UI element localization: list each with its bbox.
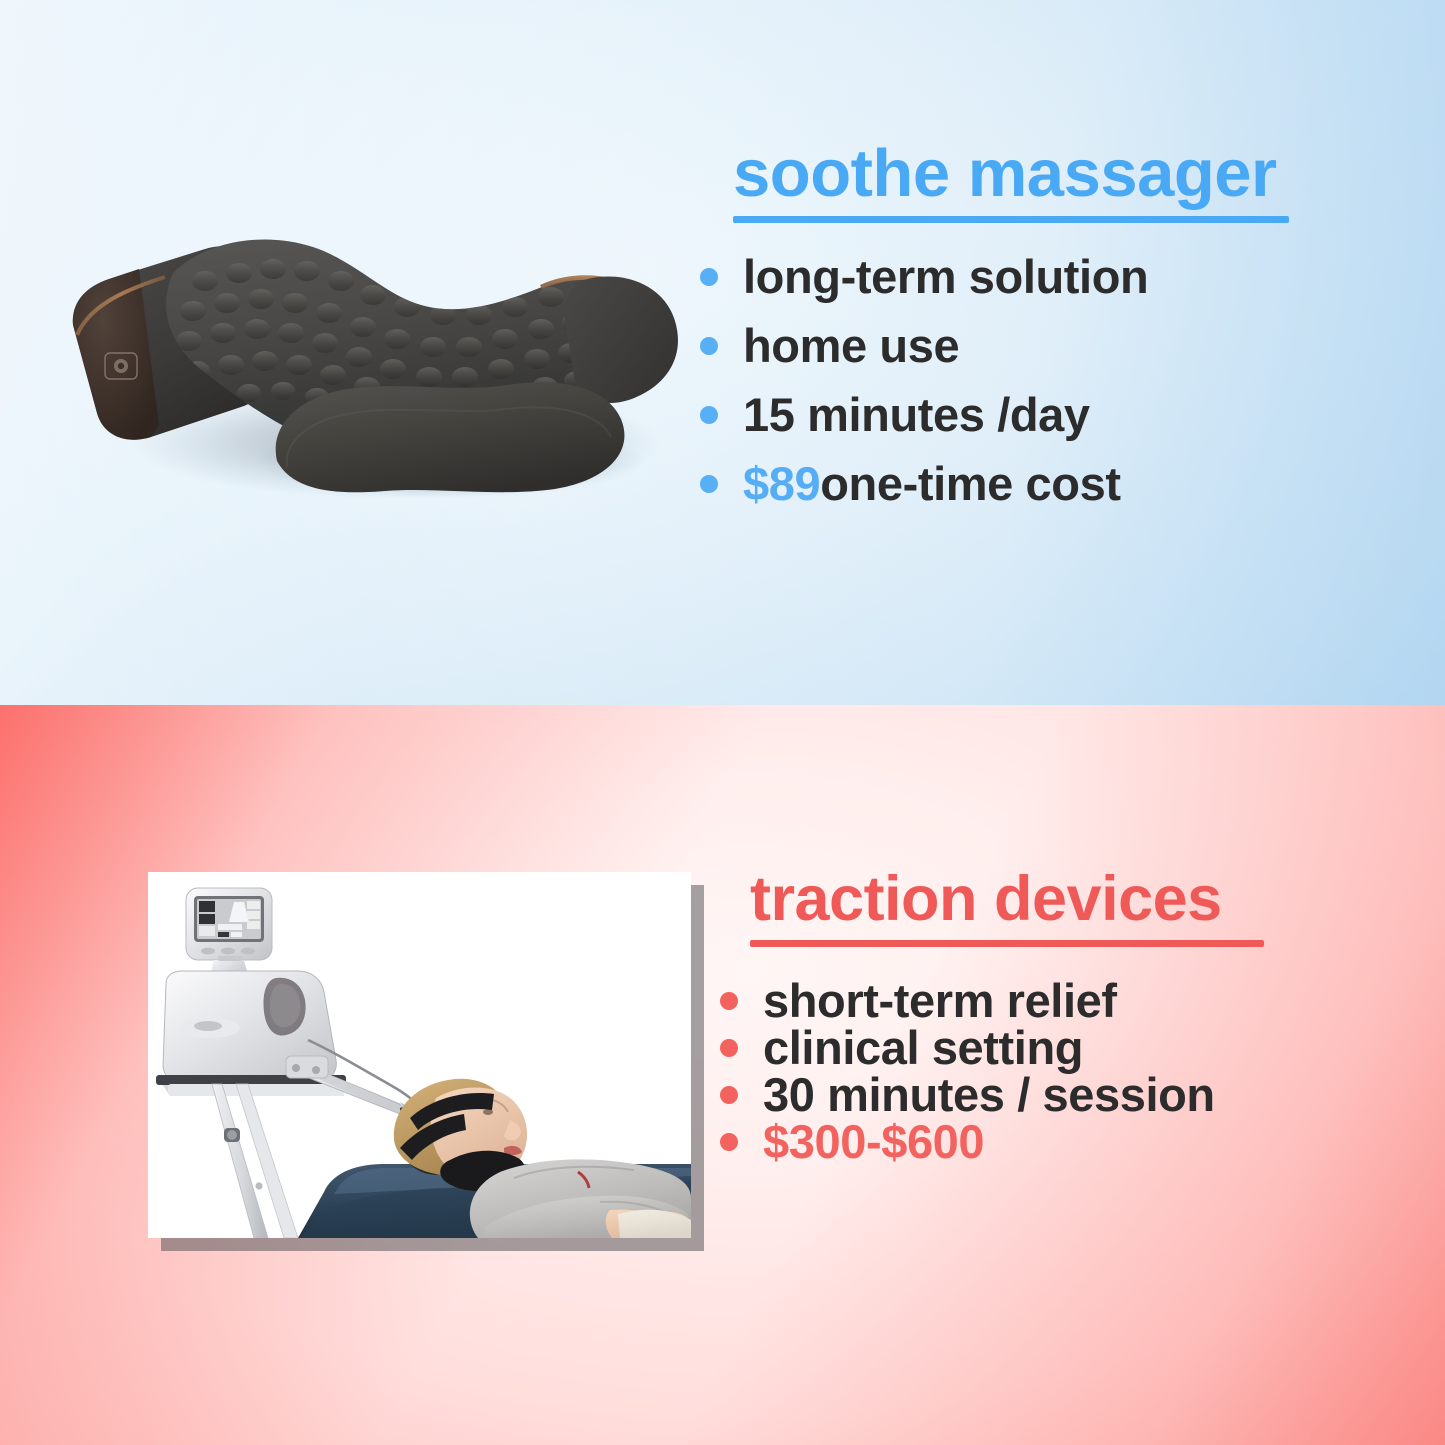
bullet-text: 15 minutes /day — [743, 391, 1090, 438]
list-item: long-term solution — [700, 253, 1360, 300]
traction-bullet-list: short-term relief clinical setting 30 mi… — [720, 977, 1400, 1165]
bullet-dot-icon — [700, 406, 718, 424]
list-item: home use — [700, 322, 1360, 369]
list-item: $300-$600 — [720, 1118, 1400, 1165]
comparison-poster: soothe massager long-term solution home … — [0, 0, 1445, 1445]
list-item: $89 one-time cost — [700, 460, 1360, 507]
traction-device-photo — [148, 872, 691, 1238]
bullet-text: 30 minutes / session — [763, 1071, 1215, 1118]
bullet-dot-icon — [720, 1133, 738, 1151]
bullet-dot-icon — [700, 337, 718, 355]
list-item: 15 minutes /day — [700, 391, 1360, 438]
soothe-heading: soothe massager — [733, 140, 1277, 207]
section-soothe-massager: soothe massager long-term solution home … — [0, 0, 1445, 705]
price-accent: $89 — [743, 460, 820, 507]
bullet-text: home use — [743, 322, 959, 369]
bullet-dot-icon — [720, 1086, 738, 1104]
soothe-heading-underline — [733, 216, 1289, 223]
soothe-text-column: soothe massager long-term solution home … — [700, 140, 1360, 529]
traction-text-column: traction devices short-term relief clini… — [720, 868, 1400, 1165]
list-item: clinical setting — [720, 1024, 1400, 1071]
price-accent: $300-$600 — [763, 1118, 984, 1165]
bullet-dot-icon — [720, 992, 738, 1010]
bullet-dot-icon — [700, 475, 718, 493]
bullet-text: one-time cost — [820, 460, 1120, 507]
soothe-bullet-list: long-term solution home use 15 minutes /… — [700, 253, 1360, 507]
bullet-text: long-term solution — [743, 253, 1148, 300]
bullet-text: short-term relief — [763, 977, 1117, 1024]
traction-heading-underline — [750, 940, 1264, 947]
bullet-dot-icon — [700, 268, 718, 286]
list-item: short-term relief — [720, 977, 1400, 1024]
list-item: 30 minutes / session — [720, 1071, 1400, 1118]
soothe-massager-image — [55, 175, 695, 505]
bullet-dot-icon — [720, 1039, 738, 1057]
traction-heading: traction devices — [750, 868, 1222, 931]
bullet-text: clinical setting — [763, 1024, 1083, 1071]
